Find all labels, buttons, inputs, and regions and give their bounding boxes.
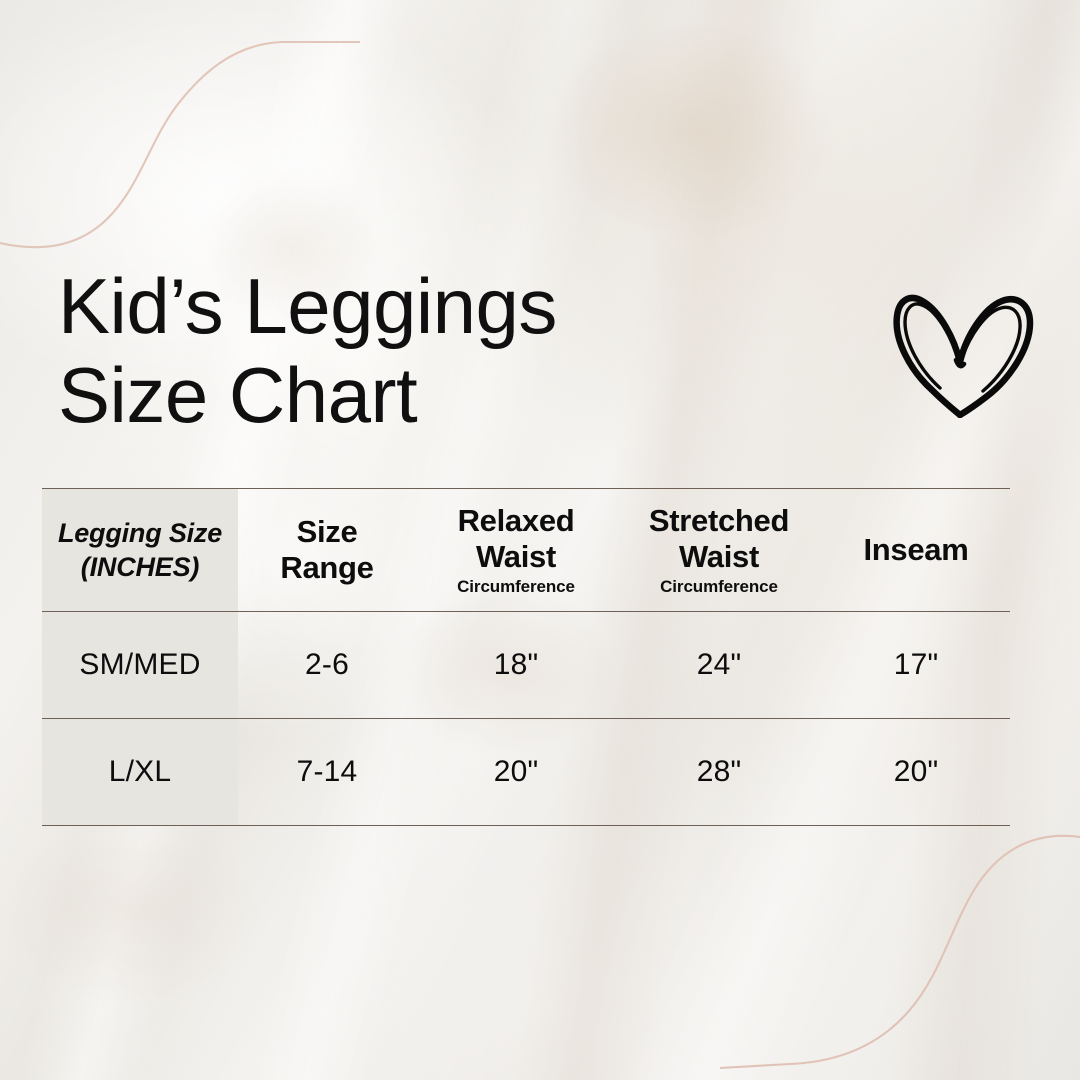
column-header-stretched-waist-sub: Circumference [616,577,822,597]
column-header-relaxed-waist-sub: Circumference [416,577,616,597]
column-header-size-range-label: Size Range [280,514,373,585]
heart-doodle-icon [888,278,1040,418]
size-table-head: Legging Size (INCHES) Size Range Relaxed… [42,489,1010,612]
cell-size-range: 7-14 [238,719,416,826]
column-header-size-range: Size Range [238,489,416,612]
column-header-relaxed-waist-label: Relaxed Waist [458,503,575,574]
column-header-relaxed-waist: Relaxed Waist Circumference [416,489,616,612]
table-row: SM/MED 2-6 18" 24" 17" [42,612,1010,719]
cell-size-range: 2-6 [238,612,416,719]
size-chart-canvas: Kid’s Leggings Size Chart Legging Size (… [0,0,1080,1080]
cell-inseam: 17" [822,612,1010,719]
size-table-body: SM/MED 2-6 18" 24" 17" L/XL 7-14 20" 28"… [42,612,1010,826]
cell-stretched-waist: 28" [616,719,822,826]
cell-inseam: 20" [822,719,1010,826]
column-header-inseam: Inseam [822,489,1010,612]
column-header-inseam-label: Inseam [863,532,968,567]
column-header-stretched-waist-label: Stretched Waist [649,503,789,574]
page-title: Kid’s Leggings Size Chart [58,262,738,440]
table-header-row: Legging Size (INCHES) Size Range Relaxed… [42,489,1010,612]
size-table-container: Legging Size (INCHES) Size Range Relaxed… [42,488,1010,826]
size-table: Legging Size (INCHES) Size Range Relaxed… [42,488,1010,826]
cell-relaxed-waist: 20" [416,719,616,826]
cell-stretched-waist: 24" [616,612,822,719]
cell-relaxed-waist: 18" [416,612,616,719]
table-row: L/XL 7-14 20" 28" 20" [42,719,1010,826]
column-header-legging-size: Legging Size (INCHES) [42,489,238,612]
column-header-stretched-waist: Stretched Waist Circumference [616,489,822,612]
cell-legging-size: SM/MED [42,612,238,719]
cell-legging-size: L/XL [42,719,238,826]
